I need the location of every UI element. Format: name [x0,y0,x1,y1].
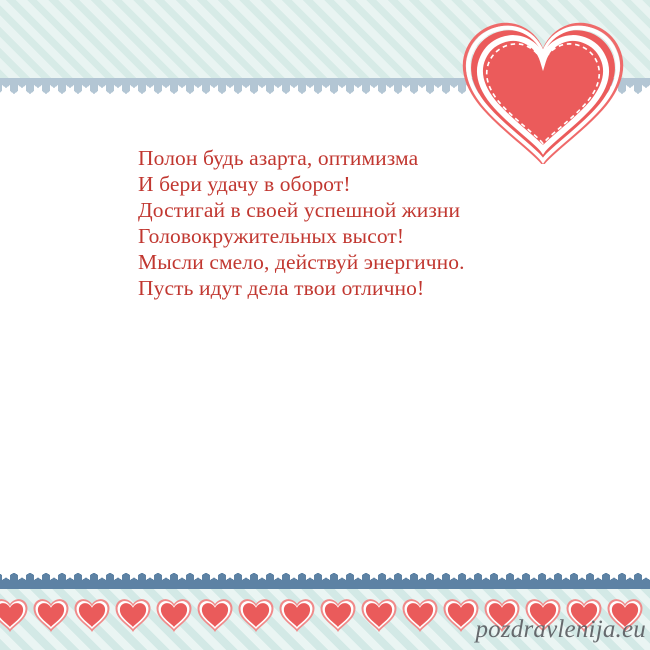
mini-heart-icon [402,598,438,632]
watermark-label: pozdravlenija.eu [475,616,646,644]
mini-heart-icon [0,598,28,632]
mini-heart-icon [156,598,192,632]
mini-heart-icon [238,598,274,632]
mini-heart-icon [279,598,315,632]
poem-line: Полон будь азарта, оптимизма [138,145,558,171]
poem-line: Пусть идут дела твои отлично! [138,275,558,301]
heart-icon [462,18,624,164]
poem-line: Достигай в своей успешной жизни [138,197,558,223]
poem-line: Головокружительных высот! [138,223,558,249]
poem-line: И бери удачу в оборот! [138,171,558,197]
mini-heart-icon [443,598,479,632]
poem-text: Полон будь азарта, оптимизма И бери удач… [138,145,558,301]
mini-heart-icon [33,598,69,632]
poem-line: Мысли смело, действуй энергично. [138,249,558,275]
bottom-zigzag-border [0,570,650,580]
mini-heart-icon [320,598,356,632]
greeting-card: Полон будь азарта, оптимизма И бери удач… [0,0,650,650]
mini-heart-icon [361,598,397,632]
mini-heart-icon [197,598,233,632]
mini-heart-icon [115,598,151,632]
mini-heart-icon [74,598,110,632]
